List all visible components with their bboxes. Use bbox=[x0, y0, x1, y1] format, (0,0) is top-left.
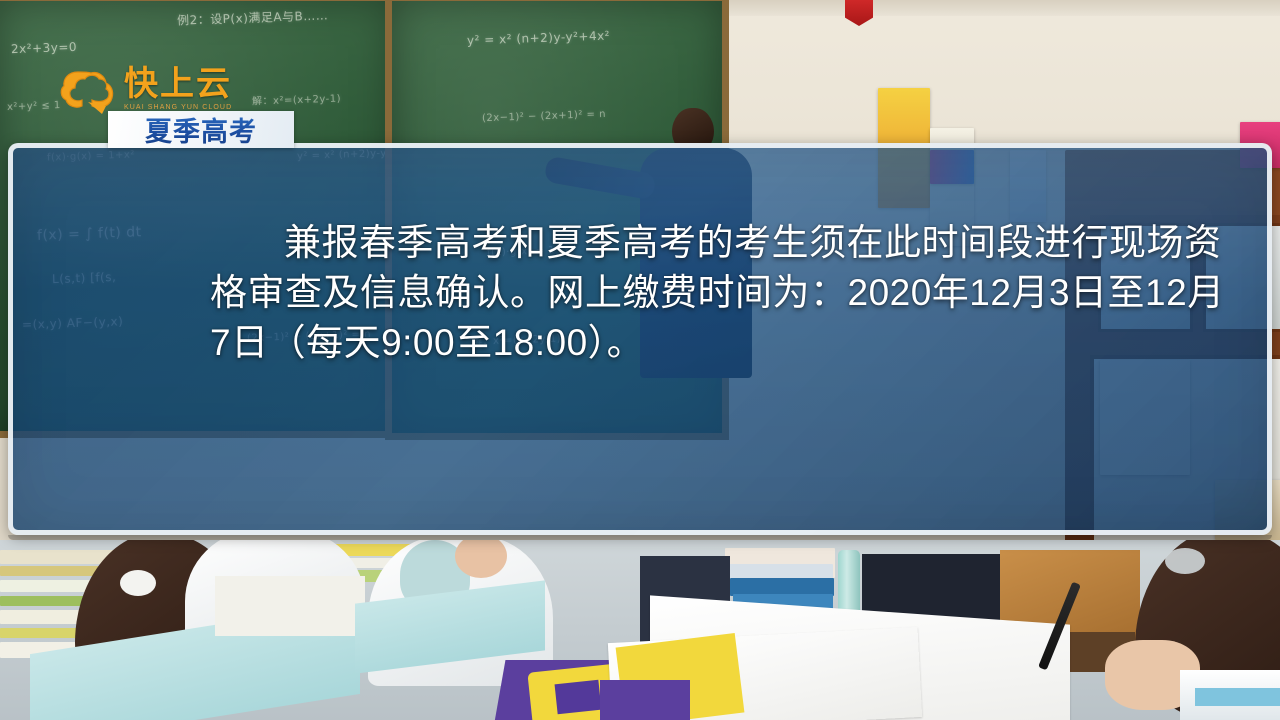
caption-text-block: 兼报春季高考和夏季高考的考生须在此时间段进行现场资 格审查及信息确认。网上缴费时… bbox=[210, 218, 1245, 368]
sleeve-stripe bbox=[1195, 688, 1280, 706]
chalk-note: (2x−1)² − (2x+1)² = n bbox=[482, 109, 606, 124]
topic-banner-label: 夏季高考 bbox=[145, 110, 257, 149]
hair-tie-icon bbox=[120, 570, 156, 596]
caption-line-2: 格审查及信息确认。网上缴费时间为：2020年12月3日至12月 bbox=[210, 268, 1245, 318]
topic-banner: 夏季高考 bbox=[108, 111, 294, 148]
folder-purple-inner bbox=[555, 680, 602, 714]
eyeglasses-icon bbox=[1165, 548, 1205, 574]
logo-name-cn: 快上云 bbox=[124, 67, 232, 101]
chalk-note: x²+y² ≤ 1 bbox=[7, 100, 61, 113]
caption-line-3: 7日（每天9:00至18:00）。 bbox=[210, 318, 1245, 368]
chalk-note: y² = x² (n+2)y-y²+4x² bbox=[467, 29, 610, 48]
caption-line-1: 兼报春季高考和夏季高考的考生须在此时间段进行现场资 bbox=[210, 218, 1245, 268]
broadcast-frame: 2x²+3y=0 x²+y² ≤ 1 例2：设P(x)满足A与B…… 解：x²=… bbox=[0, 0, 1280, 720]
purple-folder bbox=[600, 680, 690, 720]
chalk-note: 例2：设P(x)满足A与B…… bbox=[177, 6, 329, 28]
cloud-q-logo-icon bbox=[58, 60, 116, 118]
chalk-note: 2x²+3y=0 bbox=[11, 40, 77, 56]
caption-panel-shadow bbox=[8, 535, 1272, 540]
desk-panel bbox=[215, 576, 365, 636]
students-desks-scene bbox=[0, 540, 1280, 720]
logo-text: 快上云 KUAI SHANG YUN CLOUD bbox=[124, 67, 232, 111]
caption-panel: 兼报春季高考和夏季高考的考生须在此时间段进行现场资 格审查及信息确认。网上缴费时… bbox=[8, 143, 1272, 535]
